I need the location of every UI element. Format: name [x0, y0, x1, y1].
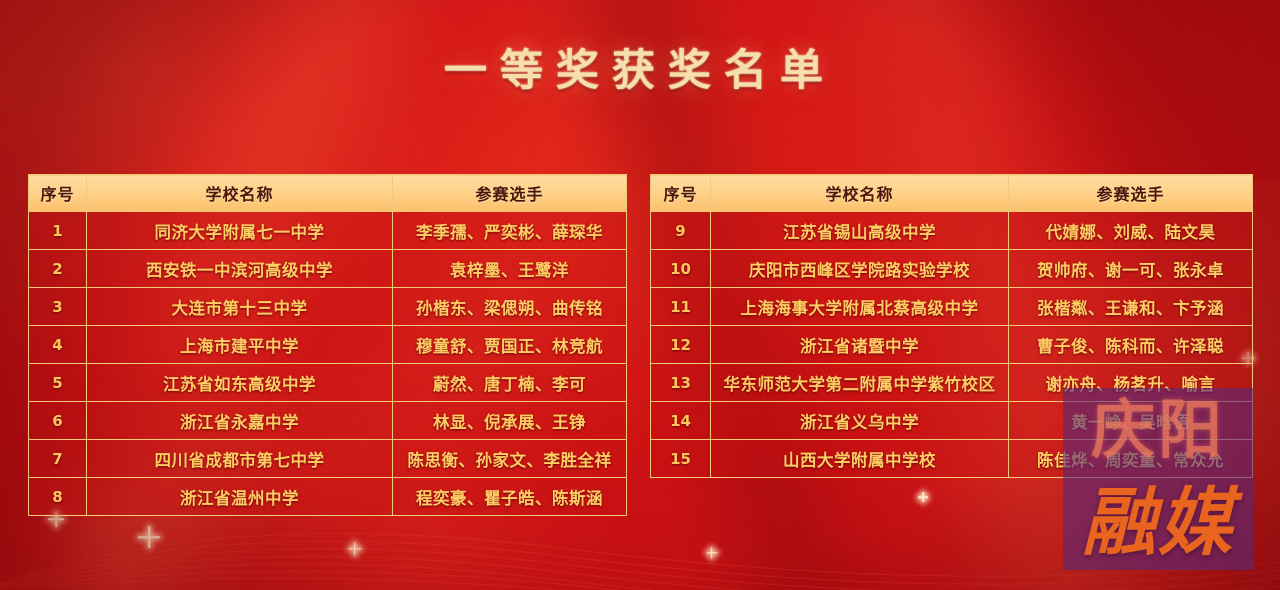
cell-seq: 11 [651, 288, 711, 326]
watermark-bottom-text: 融媒 [1063, 468, 1253, 564]
cell-players: 曹子俊、陈科而、许泽聪 [1009, 326, 1253, 364]
cell-school: 浙江省永嘉中学 [87, 402, 393, 440]
cell-school: 浙江省义乌中学 [711, 402, 1009, 440]
cell-seq: 13 [651, 364, 711, 402]
table-row: 10 庆阳市西峰区学院路实验学校 贺帅府、谢一可、张永卓 [651, 250, 1253, 288]
cell-seq: 3 [29, 288, 87, 326]
cell-players: 代婧娜、刘威、陆文昊 [1009, 212, 1253, 250]
table-row: 1 同济大学附属七一中学 李季孺、严奕彬、薛琛华 [29, 212, 627, 250]
cell-seq: 7 [29, 440, 87, 478]
cell-seq: 1 [29, 212, 87, 250]
column-header-school: 学校名称 [711, 175, 1009, 212]
cell-seq: 5 [29, 364, 87, 402]
cell-seq: 10 [651, 250, 711, 288]
watermark-top-text: 庆阳 [1063, 388, 1253, 464]
cell-school: 四川省成都市第七中学 [87, 440, 393, 478]
cell-players: 孙楷东、梁偲朔、曲传铭 [393, 288, 627, 326]
cell-seq: 2 [29, 250, 87, 288]
cell-seq: 15 [651, 440, 711, 478]
cell-school: 华东师范大学第二附属中学紫竹校区 [711, 364, 1009, 402]
cell-school: 上海市建平中学 [87, 326, 393, 364]
cell-players: 李季孺、严奕彬、薛琛华 [393, 212, 627, 250]
column-header-players: 参赛选手 [393, 175, 627, 212]
table-row: 8 浙江省温州中学 程奕豪、瞿子皓、陈斯涵 [29, 478, 627, 516]
cell-players: 陈思衡、孙家文、李胜全祥 [393, 440, 627, 478]
column-header-seq: 序号 [29, 175, 87, 212]
cell-school: 浙江省诸暨中学 [711, 326, 1009, 364]
cell-seq: 8 [29, 478, 87, 516]
cell-seq: 4 [29, 326, 87, 364]
cell-school: 江苏省锡山高级中学 [711, 212, 1009, 250]
table-row: 3 大连市第十三中学 孙楷东、梁偲朔、曲传铭 [29, 288, 627, 326]
column-header-seq: 序号 [651, 175, 711, 212]
award-table-left: 序号 学校名称 参赛选手 1 同济大学附属七一中学 李季孺、严奕彬、薛琛华 2 … [28, 174, 627, 516]
cell-school: 江苏省如东高级中学 [87, 364, 393, 402]
cell-players: 蔚然、唐丁楠、李可 [393, 364, 627, 402]
cell-seq: 12 [651, 326, 711, 364]
cell-school: 庆阳市西峰区学院路实验学校 [711, 250, 1009, 288]
watermark-logo: 庆阳 融媒 [1063, 388, 1253, 570]
cell-seq: 6 [29, 402, 87, 440]
cell-players: 林显、倪承展、王铮 [393, 402, 627, 440]
table-row: 12 浙江省诸暨中学 曹子俊、陈科而、许泽聪 [651, 326, 1253, 364]
cell-school: 西安铁一中滨河高级中学 [87, 250, 393, 288]
cell-school: 浙江省温州中学 [87, 478, 393, 516]
cell-players: 袁梓墨、王鹭洋 [393, 250, 627, 288]
page-title: 一等奖获奖名单 [0, 36, 1280, 98]
cell-players: 穆童舒、贾国正、林竞航 [393, 326, 627, 364]
table-row: 5 江苏省如东高级中学 蔚然、唐丁楠、李可 [29, 364, 627, 402]
table-row: 7 四川省成都市第七中学 陈思衡、孙家文、李胜全祥 [29, 440, 627, 478]
table-row: 6 浙江省永嘉中学 林显、倪承展、王铮 [29, 402, 627, 440]
column-header-school: 学校名称 [87, 175, 393, 212]
cell-seq: 9 [651, 212, 711, 250]
table-row: 11 上海海事大学附属北蔡高级中学 张楷粼、王谦和、卞予涵 [651, 288, 1253, 326]
cell-school: 山西大学附属中学校 [711, 440, 1009, 478]
table-header-row: 序号 学校名称 参赛选手 [651, 175, 1253, 212]
cell-school: 上海海事大学附属北蔡高级中学 [711, 288, 1009, 326]
column-header-players: 参赛选手 [1009, 175, 1253, 212]
cell-school: 大连市第十三中学 [87, 288, 393, 326]
cell-players: 张楷粼、王谦和、卞予涵 [1009, 288, 1253, 326]
table-row: 9 江苏省锡山高级中学 代婧娜、刘威、陆文昊 [651, 212, 1253, 250]
table-row: 4 上海市建平中学 穆童舒、贾国正、林竞航 [29, 326, 627, 364]
cell-school: 同济大学附属七一中学 [87, 212, 393, 250]
cell-players: 贺帅府、谢一可、张永卓 [1009, 250, 1253, 288]
table-row: 2 西安铁一中滨河高级中学 袁梓墨、王鹭洋 [29, 250, 627, 288]
cell-players: 程奕豪、瞿子皓、陈斯涵 [393, 478, 627, 516]
cell-seq: 14 [651, 402, 711, 440]
table-header-row: 序号 学校名称 参赛选手 [29, 175, 627, 212]
